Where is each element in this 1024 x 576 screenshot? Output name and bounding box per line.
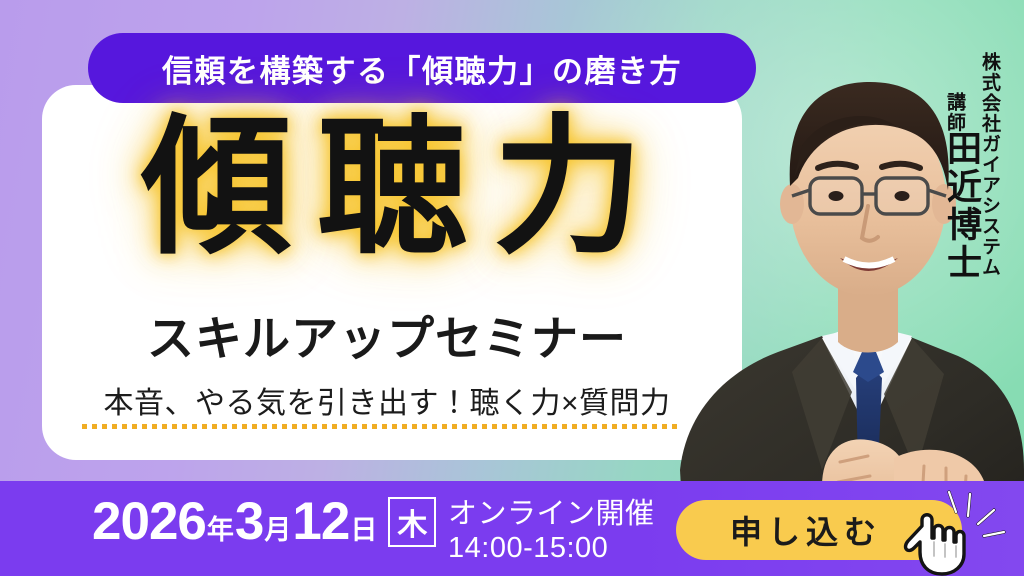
date-day-number: 12 [292,495,349,548]
apply-button[interactable]: 申し込む [676,500,962,560]
main-title: 傾聴力 [115,112,669,262]
venue-format: オンライン開催 [448,497,655,531]
tagline-wrap: 本音、やる気を引き出す！聴く力×質問力 [42,378,732,422]
date-year-number: 2026 [92,495,206,548]
speaker-name: 田近博士 [936,130,987,282]
main-title-wrap: 傾聴力 [42,112,742,262]
date-month-unit: 月 [263,517,292,544]
subtitle: スキルアップセミナー [147,312,627,365]
date-year-unit: 年 [206,517,235,544]
seminar-banner: 株式会社ガイアシステム 講師 田近博士 信頼を構築する「傾聴力」の磨き方 傾聴力… [0,0,1024,576]
apply-button-label: 申し込む [724,507,882,553]
day-of-week-badge: 木 [388,497,436,547]
date-month-number: 3 [235,495,263,548]
speaker-role: 講師 [941,92,968,133]
tagline: 本音、やる気を引き出す！聴く力×質問力 [103,387,670,420]
venue-info: オンライン開催 14:00-15:00 [448,497,655,565]
header-pill: 信頼を構築する「傾聴力」の磨き方 [88,33,756,103]
date-day-unit: 日 [349,517,378,544]
dotted-divider [82,424,682,429]
subtitle-wrap: スキルアップセミナー [42,300,732,369]
venue-time: 14:00-15:00 [448,531,655,565]
header-pill-text: 信頼を構築する「傾聴力」の磨き方 [162,46,682,91]
event-date: 2026 年 3 月 12 日 木 [92,495,436,548]
